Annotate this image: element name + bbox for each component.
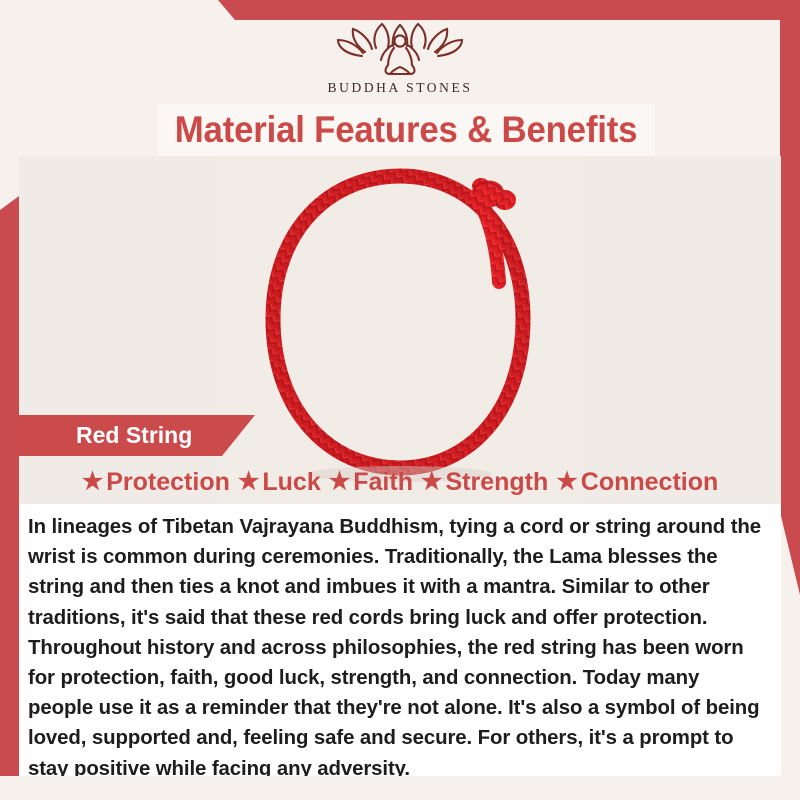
left-accent-bar [0,196,19,800]
infographic-page: BUDDHA STONES Material Features & Benefi… [0,0,800,800]
top-accent-bar [140,0,800,20]
benefit-item: ★ Luck [234,468,325,497]
benefit-label: Connection [581,468,719,497]
star-icon: ★ [82,470,104,494]
star-icon: ★ [556,470,578,494]
benefit-label: Faith [353,468,413,497]
benefit-label: Protection [106,468,230,497]
benefit-item: ★ Protection [78,468,234,497]
benefit-item: ★ Strength [417,468,552,497]
benefit-label: Luck [262,468,320,497]
ribbon-label: Red String [76,422,192,449]
bottom-strip [0,776,800,800]
title-band: Material Features & Benefits [158,104,655,156]
description-paragraph: In lineages of Tibetan Vajrayana Buddhis… [28,512,767,784]
red-string-bracelet-photo [217,156,583,506]
benefit-label: Strength [445,468,548,497]
star-icon: ★ [329,470,351,494]
benefit-item: ★ Connection [552,468,722,497]
star-icon: ★ [238,470,260,494]
description-panel: In lineages of Tibetan Vajrayana Buddhis… [19,504,781,776]
brand-name: BUDDHA STONES [328,80,473,96]
section-ribbon: Red String [19,415,255,456]
lotus-meditation-figure-icon [332,22,468,78]
page-title: Material Features & Benefits [175,109,637,151]
benefit-item: ★ Faith [325,468,417,497]
star-icon: ★ [421,470,443,494]
brand-logo: BUDDHA STONES [0,22,800,102]
benefits-row: ★ Protection ★ Luck ★ Faith ★ Strength ★… [19,463,781,501]
